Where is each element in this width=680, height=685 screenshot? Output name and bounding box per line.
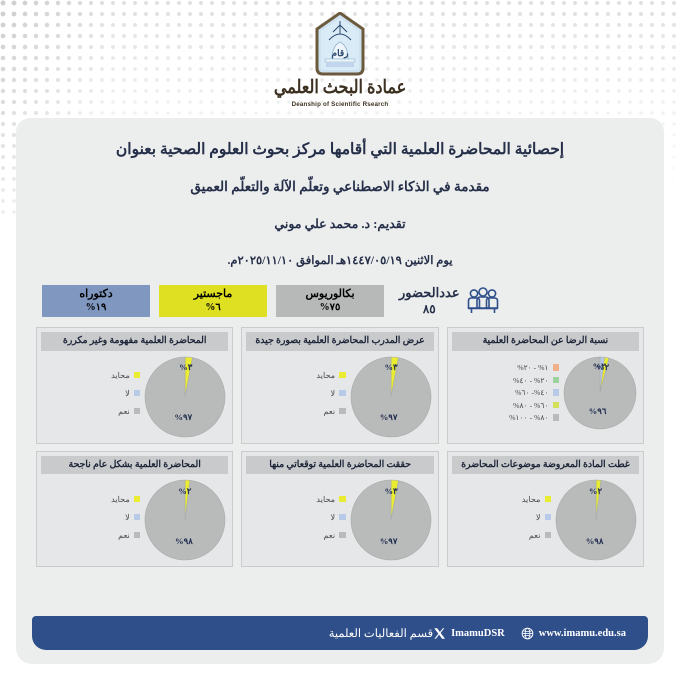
degree-name: دكتوراه: [79, 288, 112, 301]
legend-item: ٨٠% - ١٠٠%: [454, 413, 559, 422]
footer-links: ImamuDSR www.imamu.edu.sa: [433, 627, 626, 640]
pie-slice-label: ٩٧%: [380, 536, 398, 547]
footer-link-website[interactable]: www.imamu.edu.sa: [521, 627, 626, 640]
legend-label: نعم: [118, 406, 130, 416]
legend-item: نعم: [43, 406, 140, 416]
legend-item: محايد: [43, 494, 140, 504]
page-title: إحصائية المحاضرة العلمية التي أقامها مرك…: [16, 140, 664, 159]
legend-label: نعم: [529, 530, 541, 540]
chart-panel-trainer-presentation-quality: عرض المدرب المحاضرة العلمية بصورة جيدة٣%…: [241, 327, 438, 444]
chart-panel-body: ٣%٩٧%محايدلانعم: [41, 351, 228, 438]
content-card: إحصائية المحاضرة العلمية التي أقامها مرك…: [16, 118, 664, 664]
chart-panel-body: ٢%٩٨%محايدلانعم: [41, 474, 228, 561]
degree-badge-bachelor: بكالوريوس ٧٥%: [276, 285, 384, 317]
chart-panel-title: المحاضرة العلمية مفهومة وغير مكررة: [41, 332, 228, 351]
legend-label: محايد: [316, 370, 335, 380]
attendance-block: عددالحضور ٨٥: [399, 285, 500, 316]
legend-item: ٦٠% - ٨٠%: [454, 401, 559, 410]
legend-item: محايد: [248, 370, 345, 380]
chart-legend: محايدلانعم: [43, 494, 144, 547]
event-date: يوم الاثنين ١٤٤٧/٠٥/١٩هـ الموافق ٢٠٢٥/١١…: [16, 253, 664, 267]
legend-swatch: [339, 496, 346, 503]
legend-item: ٢٠% - ٤٠%: [454, 376, 559, 385]
pie-chart-lecture-clear-not-repetitive: ٣%٩٧%: [144, 356, 226, 438]
pie-slice-label: ٢%: [178, 486, 191, 497]
legend-label: محايد: [111, 494, 130, 504]
chart-panel-satisfaction-rate: نسبة الرضا عن المحاضرة العلمية٢%٢%٩٦%١% …: [447, 327, 644, 444]
deanship-name-arabic: عمادة البحث العلمي: [274, 76, 406, 99]
legend-label: لا: [125, 388, 130, 398]
chart-panel-title: عرض المدرب المحاضرة العلمية بصورة جيدة: [246, 332, 433, 351]
legend-label: نعم: [323, 406, 335, 416]
pie-slice-label: ٣%: [384, 362, 397, 373]
deanship-name-english: Deanship of Scientific Rsearch: [292, 101, 389, 108]
legend-label: لا: [331, 388, 336, 398]
legend-label: محايد: [316, 494, 335, 504]
attendance-value: ٨٥: [399, 302, 460, 317]
legend-label: لا: [536, 512, 541, 522]
legend-item: ١% - ٢٠%: [454, 363, 559, 372]
chart-panel-title: غطت المادة المعروضة موضوعات المحاضرة: [452, 456, 639, 475]
pie-slice-label: ٣%: [384, 486, 397, 497]
legend-swatch: [134, 408, 141, 415]
legend-swatch: [553, 402, 560, 409]
chart-panel-lecture-generally-successful: المحاضرة العلمية بشكل عام ناجحة٢%٩٨%محاي…: [36, 451, 233, 568]
degree-name: بكالوريوس: [306, 288, 355, 301]
degree-badge-master: ماجستير ٦%: [159, 285, 267, 317]
pie-slice-label: ٢%: [589, 486, 602, 497]
chart-panel-grid: نسبة الرضا عن المحاضرة العلمية٢%٢%٩٦%١% …: [36, 327, 644, 567]
legend-swatch: [339, 390, 346, 397]
legend-item: لا: [454, 512, 551, 522]
legend-swatch: [134, 390, 141, 397]
presenter-name: تقديم: د. محمد علي موني: [16, 216, 664, 232]
degree-badge-doctorate: دكتوراه ١٩%: [42, 285, 150, 317]
page-footer: ImamuDSR www.imamu.edu.sa قسم الفعاليات …: [32, 616, 648, 650]
legend-item: محايد: [43, 370, 140, 380]
pie-slice-label: ٢%: [596, 362, 609, 373]
title-block: إحصائية المحاضرة العلمية التي أقامها مرك…: [16, 140, 664, 267]
legend-item: نعم: [248, 530, 345, 540]
degree-value: ١٩%: [86, 302, 107, 314]
attendance-text: عددالحضور ٨٥: [399, 285, 460, 316]
footer-link-label: www.imamu.edu.sa: [539, 628, 626, 639]
pie-slice-label: ٩٨%: [586, 536, 604, 547]
footer-link-label: ImamuDSR: [451, 628, 505, 639]
statistics-row: عددالحضور ٨٥ بكالوريوس ٧٥% ماجستير ٦% دك…: [42, 285, 644, 317]
pie-chart-lecture-generally-successful: ٢%٩٨%: [144, 479, 226, 561]
audience-group-icon: [466, 287, 500, 315]
lecture-subject: مقدمة في الذكاء الاصطناعي وتعلّم الآلة و…: [16, 179, 664, 195]
chart-panel-title: حققت المحاضرة العلمية توقعاتي منها: [246, 456, 433, 475]
attendance-label: عددالحضور: [399, 285, 460, 301]
legend-label: لا: [331, 512, 336, 522]
legend-swatch: [339, 372, 346, 379]
chart-panel-body: ٣%٩٧%محايدلانعم: [246, 474, 433, 561]
pie-slice-label: ٩٧%: [380, 412, 398, 423]
footer-link-x[interactable]: ImamuDSR: [433, 627, 505, 640]
legend-swatch: [553, 389, 560, 396]
degree-value: ٧٥%: [320, 302, 341, 314]
legend-swatch: [545, 532, 552, 539]
legend-label: ٨٠% - ١٠٠%: [509, 413, 548, 422]
chart-legend: محايدلانعم: [248, 494, 349, 547]
legend-item: محايد: [454, 494, 551, 504]
pie-chart-met-my-expectations: ٣%٩٧%: [350, 479, 432, 561]
pie-slice-label: ٣%: [179, 362, 192, 373]
legend-item: لا: [248, 512, 345, 522]
pie-chart-trainer-presentation-quality: ٣%٩٧%: [350, 356, 432, 438]
globe-icon: [521, 627, 534, 640]
legend-swatch: [339, 532, 346, 539]
brand-header: رقام عمادة البحث العلمي Deanship of Scie…: [0, 0, 680, 118]
footer-department: قسم الفعاليات العلمية: [329, 626, 433, 640]
chart-panel-body: ٣%٩٧%محايدلانعم: [246, 351, 433, 438]
legend-item: لا: [248, 388, 345, 398]
svg-text:رقام: رقام: [332, 48, 349, 59]
degree-name: ماجستير: [194, 288, 233, 301]
legend-item: نعم: [248, 406, 345, 416]
chart-panel-title: نسبة الرضا عن المحاضرة العلمية: [452, 332, 639, 351]
legend-label: محايد: [111, 370, 130, 380]
chart-legend: محايدلانعم: [454, 494, 555, 547]
legend-item: ٤٠%- ٦٠%: [454, 388, 559, 397]
legend-swatch: [134, 514, 141, 521]
university-shield-emblem-icon: رقام: [314, 12, 366, 76]
pie-chart-satisfaction-rate: ٢%٢%٩٦%: [563, 356, 637, 430]
legend-item: نعم: [454, 530, 551, 540]
chart-panel-body: ٢%٩٨%محايدلانعم: [452, 474, 639, 561]
pie-slice-label: ٩٦%: [589, 406, 607, 417]
pie-slice-label: ٩٧%: [174, 412, 192, 423]
legend-label: ٢٠% - ٤٠%: [513, 376, 548, 385]
legend-label: ١% - ٢٠%: [517, 363, 548, 372]
legend-swatch: [553, 364, 560, 371]
chart-panel-material-covered-topics: غطت المادة المعروضة موضوعات المحاضرة٢%٩٨…: [447, 451, 644, 568]
x-twitter-icon: [433, 627, 446, 640]
legend-swatch: [339, 514, 346, 521]
legend-label: محايد: [522, 494, 541, 504]
legend-label: نعم: [118, 530, 130, 540]
infographic-page: رقام عمادة البحث العلمي Deanship of Scie…: [0, 0, 680, 680]
legend-label: لا: [125, 512, 130, 522]
legend-swatch: [545, 514, 552, 521]
legend-item: لا: [43, 512, 140, 522]
legend-swatch: [339, 408, 346, 415]
legend-swatch: [134, 372, 141, 379]
legend-label: ٦٠% - ٨٠%: [513, 401, 548, 410]
legend-label: ٤٠%- ٦٠%: [515, 388, 548, 397]
degree-value: ٦%: [205, 302, 220, 314]
legend-swatch: [134, 532, 141, 539]
chart-legend: محايدلانعم: [43, 370, 144, 423]
legend-item: لا: [43, 388, 140, 398]
chart-panel-lecture-clear-not-repetitive: المحاضرة العلمية مفهومة وغير مكررة٣%٩٧%م…: [36, 327, 233, 444]
chart-legend: محايدلانعم: [248, 370, 349, 423]
chart-panel-body: ٢%٢%٩٦%١% - ٢٠%٢٠% - ٤٠%٤٠%- ٦٠%٦٠% - ٨٠…: [452, 351, 639, 430]
pie-slice-label: ٩٨%: [175, 536, 193, 547]
legend-swatch: [134, 496, 141, 503]
pie-chart-material-covered-topics: ٢%٩٨%: [555, 479, 637, 561]
legend-item: نعم: [43, 530, 140, 540]
legend-swatch: [545, 496, 552, 503]
legend-label: نعم: [323, 530, 335, 540]
legend-item: محايد: [248, 494, 345, 504]
legend-swatch: [553, 414, 560, 421]
chart-panel-title: المحاضرة العلمية بشكل عام ناجحة: [41, 456, 228, 475]
chart-legend: ١% - ٢٠%٢٠% - ٤٠%٤٠%- ٦٠%٦٠% - ٨٠%٨٠% - …: [454, 363, 563, 422]
chart-panel-met-my-expectations: حققت المحاضرة العلمية توقعاتي منها٣%٩٧%م…: [241, 451, 438, 568]
legend-swatch: [553, 377, 560, 384]
